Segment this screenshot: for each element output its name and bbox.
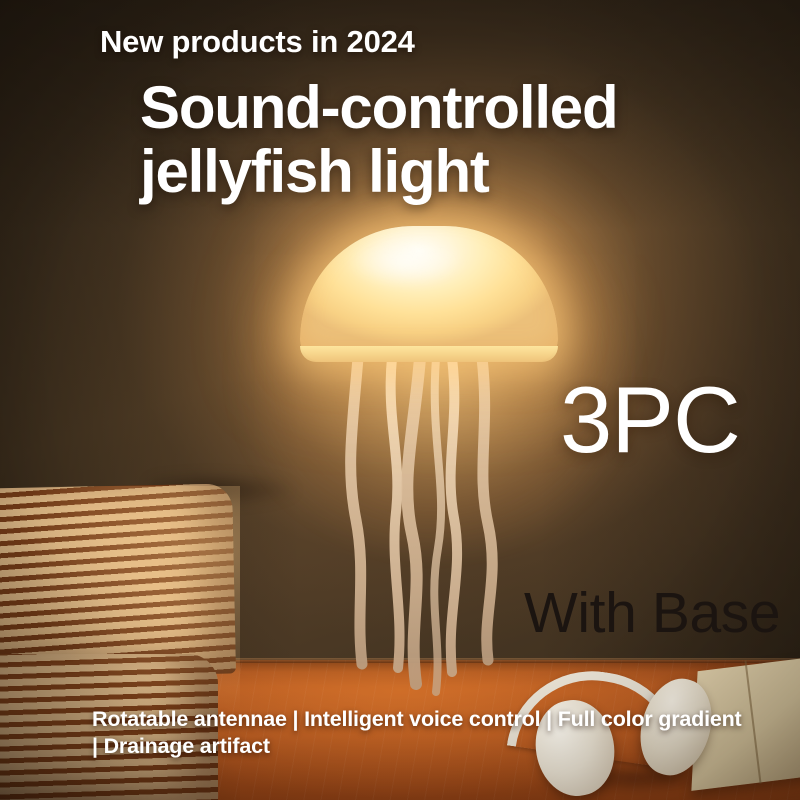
headline-text: Sound-controlled jellyfish light [140, 76, 617, 203]
feature-list-text: Rotatable antennae | Intelligent voice c… [92, 706, 752, 760]
eyebrow-text: New products in 2024 [100, 24, 415, 60]
product-banner: New products in 2024 Sound-controlled je… [0, 0, 800, 800]
with-base-badge: With Base [524, 580, 780, 646]
pillow-upper [0, 483, 236, 678]
quantity-badge: 3PC [560, 366, 740, 474]
